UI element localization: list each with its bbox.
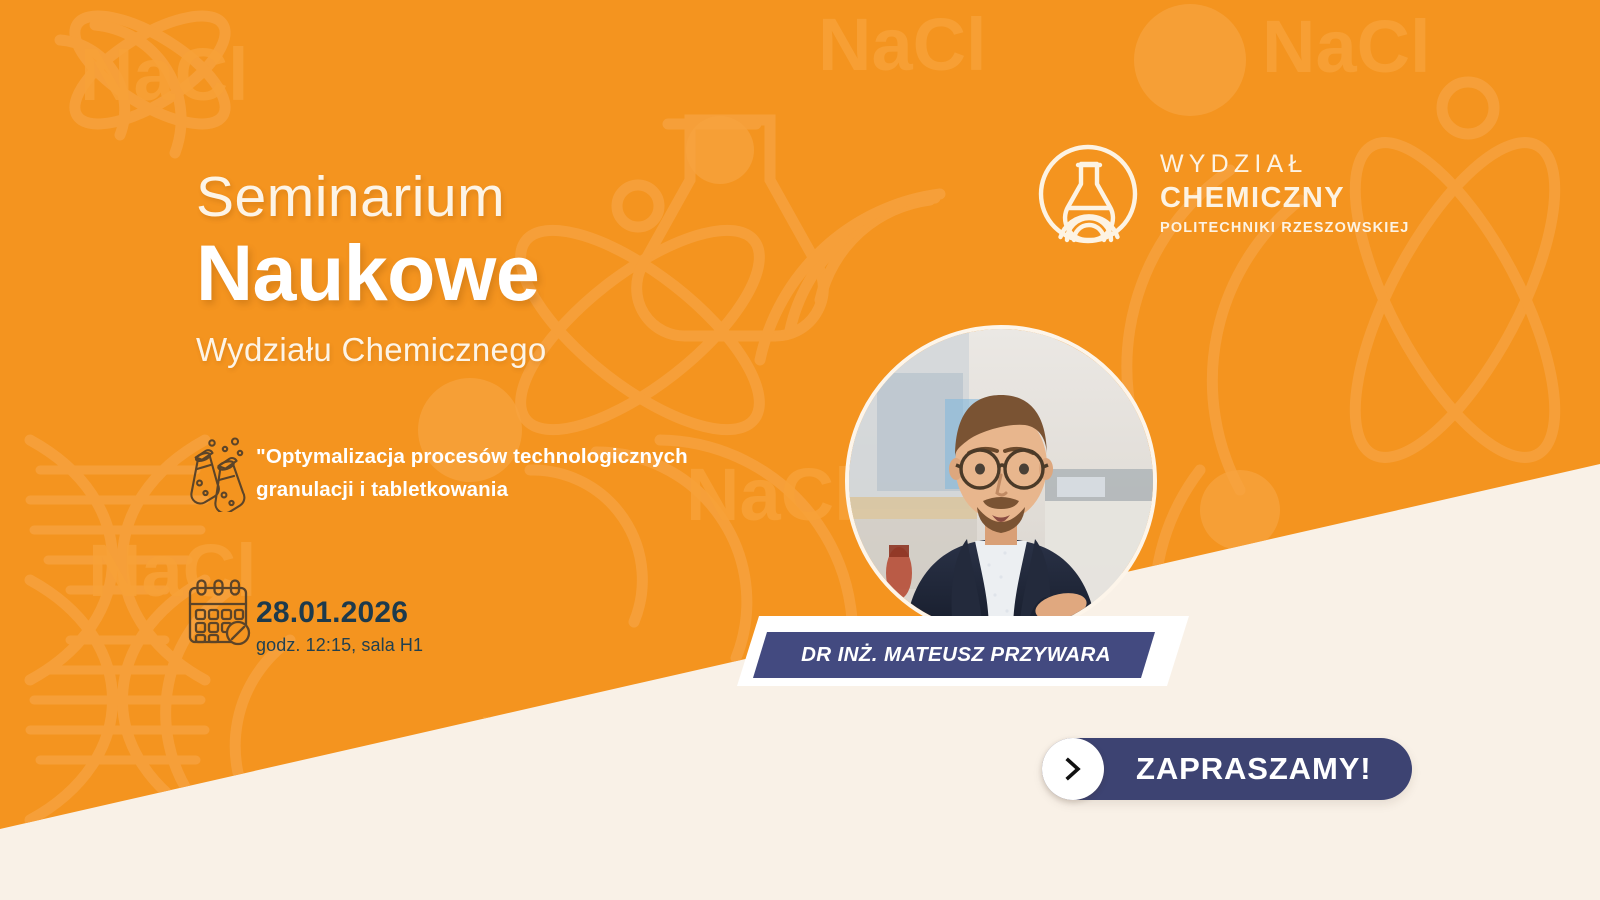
calendar-icon	[182, 578, 256, 648]
chevron-right-icon[interactable]	[1042, 738, 1104, 800]
headline-line-2: Naukowe	[196, 232, 836, 315]
logo-line-chemiczny: CHEMICZNY	[1160, 184, 1410, 213]
zapraszamy-button-label: ZAPRASZAMY!	[1136, 751, 1372, 787]
speaker-portrait	[845, 325, 1157, 637]
headline-block: Seminarium Naukowe Wydziału Chemicznego	[196, 168, 836, 369]
seminar-schedule-row: 28.01.2026 godz. 12:15, sala H1	[182, 578, 602, 656]
logo-line-university: POLITECHNIKI RZESZOWSKIEJ	[1160, 221, 1410, 236]
speaker-name-plate: DR INŻ. MATEUSZ PRZYWARA	[753, 632, 1155, 678]
faculty-logo: WYDZIAŁ CHEMICZNY POLITECHNIKI RZESZOWSK…	[1036, 142, 1410, 246]
seminar-topic-text: "Optymalizacja procesów technologicznych…	[256, 436, 702, 506]
seminar-poster: NaCl NaCl NaCl NaCl NaCl NaCl Seminarium…	[0, 0, 1600, 900]
speaker-name: DR INŻ. MATEUSZ PRZYWARA	[801, 643, 1111, 667]
logo-line-wydzial: WYDZIAŁ	[1160, 152, 1410, 177]
headline-line-1: Seminarium	[196, 168, 836, 228]
test-tubes-icon	[182, 436, 256, 512]
headline-line-3: Wydziału Chemicznego	[196, 331, 836, 369]
seminar-date: 28.01.2026	[256, 578, 423, 629]
faculty-logo-text: WYDZIAŁ CHEMICZNY POLITECHNIKI RZESZOWSK…	[1160, 152, 1410, 236]
schedule-text-block: 28.01.2026 godz. 12:15, sala H1	[256, 578, 423, 656]
seminar-topic-row: "Optymalizacja procesów technologicznych…	[182, 436, 702, 512]
seminar-time-room: godz. 12:15, sala H1	[256, 635, 423, 656]
flask-circle-icon	[1036, 142, 1140, 246]
zapraszamy-button[interactable]: ZAPRASZAMY!	[1042, 738, 1412, 800]
